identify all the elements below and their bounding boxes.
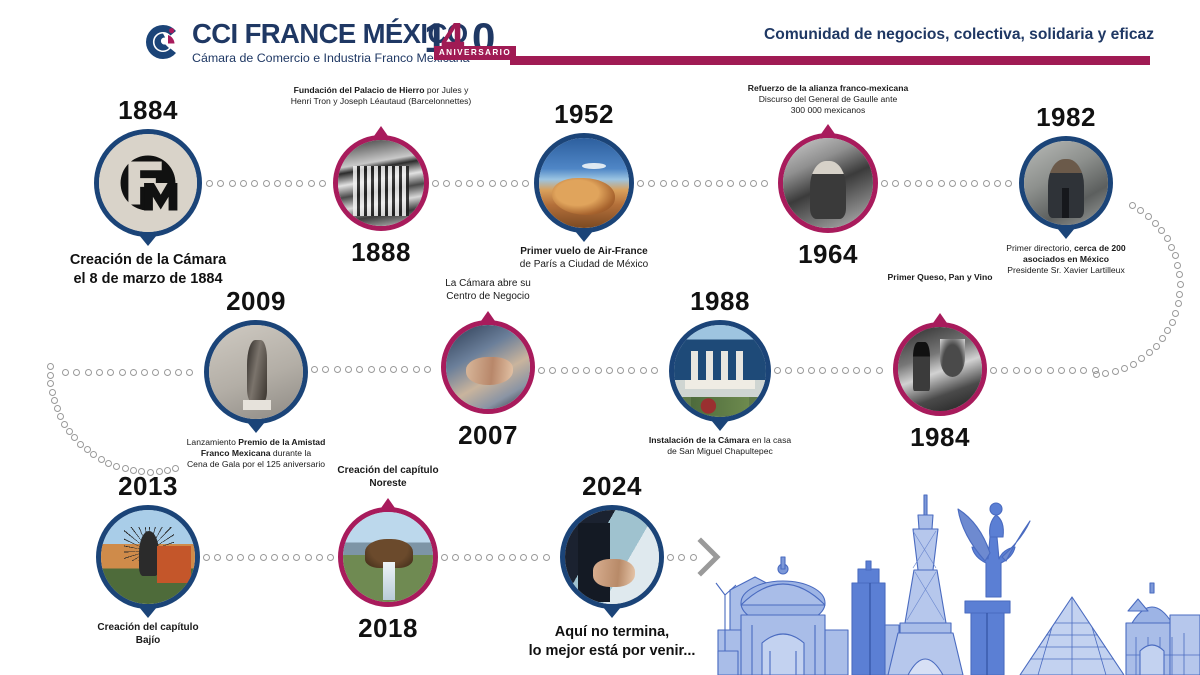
bellas-artes-landmark bbox=[716, 557, 848, 675]
louvre-pyramid-landmark bbox=[1020, 597, 1124, 675]
infographic-canvas: CCI FRANCE MÉXICO Cámara de Comercio e I… bbox=[0, 0, 1200, 675]
angel-independencia-landmark bbox=[958, 503, 1030, 675]
paris-mexico-skyline-illustration bbox=[700, 465, 1200, 675]
louvre-palace-landmark bbox=[1126, 583, 1200, 675]
eiffel-tower-landmark bbox=[888, 495, 963, 675]
